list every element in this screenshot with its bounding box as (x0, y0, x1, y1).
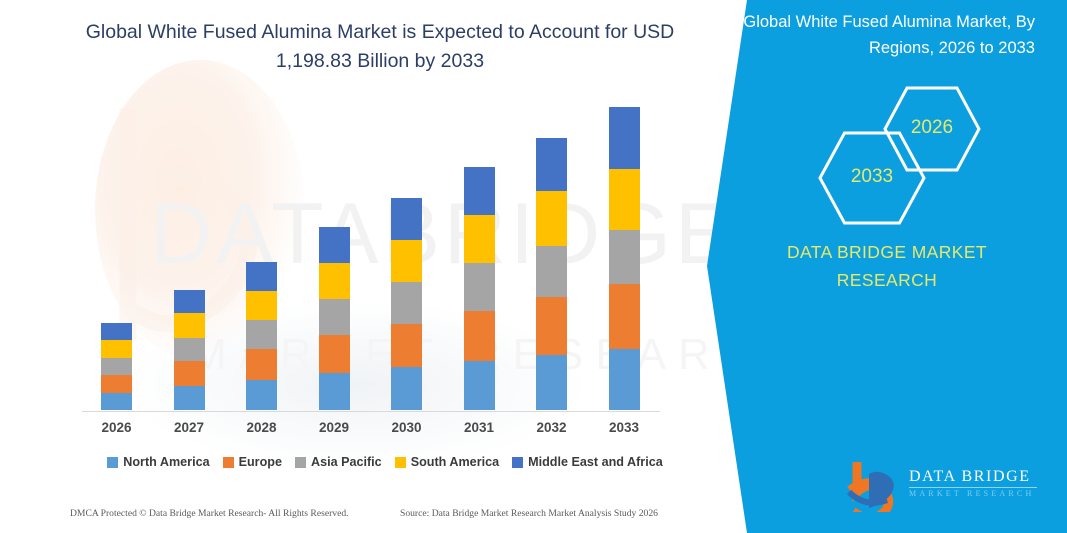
bar-segment[interactable] (174, 290, 205, 313)
brand-line-2: RESEARCH (837, 270, 937, 290)
legend-item[interactable]: North America (107, 455, 209, 469)
bar-segment[interactable] (246, 349, 277, 379)
bar-group-2026[interactable] (101, 323, 132, 411)
x-axis-tick-2029: 2029 (299, 420, 369, 435)
bar-group-2030[interactable] (391, 198, 422, 410)
bar-segment[interactable] (464, 215, 495, 263)
bar-segment[interactable] (464, 311, 495, 361)
bar-segment[interactable] (391, 198, 422, 240)
bar-segment[interactable] (319, 263, 350, 299)
x-axis-tick-2026: 2026 (82, 420, 152, 435)
bar-segment[interactable] (174, 338, 205, 361)
bar-segment[interactable] (319, 227, 350, 263)
bar-segment[interactable] (246, 291, 277, 320)
bar-segment[interactable] (101, 358, 132, 376)
brand-panel: Global White Fused Alumina Market, By Re… (707, 0, 1067, 533)
bar-segment[interactable] (319, 299, 350, 335)
dbmr-logo-subtext: MARKET RESEARCH (909, 489, 1034, 498)
bar-segment[interactable] (464, 263, 495, 311)
legend-label: Middle East and Africa (528, 455, 663, 469)
x-axis-labels: 20262027202820292030203120322033 (85, 420, 675, 444)
brand-name: DATA BRIDGE MARKET RESEARCH (737, 238, 1037, 294)
hexagon-group: 2033 2026 (707, 85, 1067, 220)
x-axis-tick-2031: 2031 (444, 420, 514, 435)
bar-segment[interactable] (609, 284, 640, 349)
legend-item[interactable]: Middle East and Africa (512, 455, 663, 469)
legend-swatch-icon (295, 457, 306, 468)
bar-chart (85, 95, 675, 415)
legend-label: Asia Pacific (311, 455, 382, 469)
plot-area (85, 95, 675, 410)
footer: DMCA Protected © Data Bridge Market Rese… (0, 508, 760, 530)
bar-group-2032[interactable] (536, 138, 567, 410)
legend-swatch-icon (512, 457, 523, 468)
x-axis-tick-2028: 2028 (227, 420, 297, 435)
bar-segment[interactable] (536, 297, 567, 355)
footer-copyright: DMCA Protected © Data Bridge Market Rese… (70, 508, 349, 519)
bar-group-2029[interactable] (319, 227, 350, 410)
footer-source: Source: Data Bridge Market Research Mark… (400, 508, 658, 519)
x-axis-tick-2032: 2032 (517, 420, 587, 435)
bar-segment[interactable] (391, 367, 422, 410)
chart-panel: DATABRIDGE MARKET RESEARCH Global White … (0, 0, 760, 533)
bar-segment[interactable] (246, 380, 277, 410)
bar-group-2028[interactable] (246, 262, 277, 410)
bar-segment[interactable] (536, 191, 567, 246)
x-axis-tick-2030: 2030 (372, 420, 442, 435)
bar-segment[interactable] (536, 355, 567, 410)
bar-segment[interactable] (391, 240, 422, 282)
legend-label: Europe (239, 455, 282, 469)
x-axis-tick-2027: 2027 (154, 420, 224, 435)
brand-panel-title: Global White Fused Alumina Market, By Re… (727, 10, 1047, 61)
bar-segment[interactable] (536, 246, 567, 297)
bar-segment[interactable] (536, 138, 567, 191)
dbmr-logo: DATA BRIDGE MARKET RESEARCH (847, 462, 1047, 518)
bar-segment[interactable] (101, 340, 132, 358)
bar-segment[interactable] (101, 375, 132, 393)
chart-legend: North AmericaEuropeAsia PacificSouth Ame… (85, 455, 685, 469)
bar-segment[interactable] (174, 313, 205, 338)
hexagon-2026-label: 2026 (882, 117, 982, 139)
bar-segment[interactable] (246, 320, 277, 349)
legend-label: South America (411, 455, 499, 469)
brand-line-1: DATA BRIDGE MARKET (787, 242, 987, 262)
bar-group-2027[interactable] (174, 290, 205, 410)
bar-segment[interactable] (464, 361, 495, 410)
legend-item[interactable]: South America (395, 455, 499, 469)
bar-segment[interactable] (246, 262, 277, 291)
bar-segment[interactable] (101, 323, 132, 341)
x-axis-line (82, 411, 660, 412)
legend-swatch-icon (395, 457, 406, 468)
bar-segment[interactable] (174, 361, 205, 386)
dbmr-logo-text: DATA BRIDGE (909, 468, 1031, 486)
bar-group-2033[interactable] (609, 107, 640, 410)
hexagon-2026: 2026 (882, 85, 982, 173)
bar-segment[interactable] (464, 167, 495, 215)
bar-segment[interactable] (391, 282, 422, 324)
bar-segment[interactable] (609, 349, 640, 410)
bar-segment[interactable] (174, 386, 205, 411)
bar-segment[interactable] (609, 230, 640, 284)
bar-segment[interactable] (609, 107, 640, 169)
x-axis-tick-2033: 2033 (589, 420, 659, 435)
legend-item[interactable]: Asia Pacific (295, 455, 382, 469)
bar-segment[interactable] (609, 169, 640, 231)
legend-swatch-icon (223, 457, 234, 468)
bar-segment[interactable] (391, 324, 422, 367)
dbmr-logo-mark (847, 462, 905, 512)
bar-segment[interactable] (319, 373, 350, 410)
bar-group-2031[interactable] (464, 167, 495, 410)
page-title: Global White Fused Alumina Market is Exp… (80, 18, 680, 77)
bar-segment[interactable] (319, 335, 350, 372)
dbmr-logo-divider (909, 487, 1037, 488)
legend-swatch-icon (107, 457, 118, 468)
bar-segment[interactable] (101, 393, 132, 411)
legend-item[interactable]: Europe (223, 455, 282, 469)
legend-label: North America (123, 455, 209, 469)
